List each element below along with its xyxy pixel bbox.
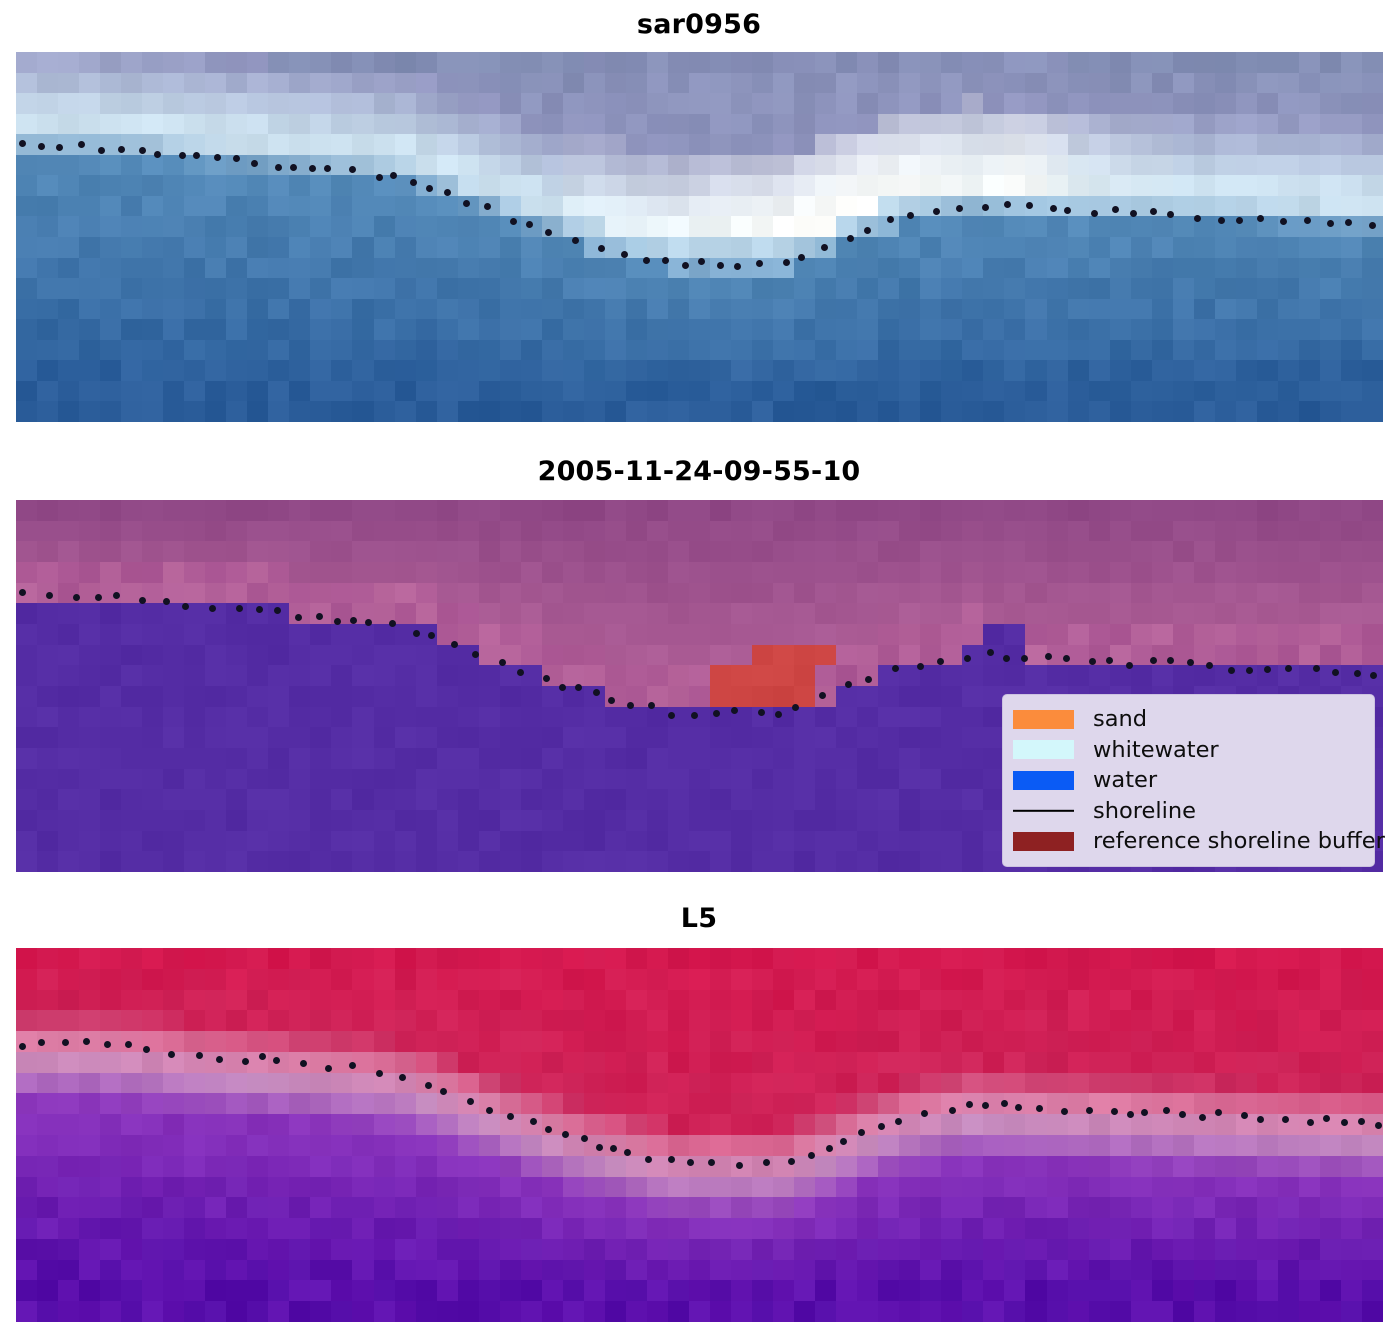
figure-canvas: sar0956 2005-11-24-09-55-10 L5 sandwhite…: [0, 0, 1398, 1337]
sar-raster: [16, 52, 1383, 422]
panel-title-sar: sar0956: [0, 9, 1398, 40]
legend-swatch-whitewater-icon: [1013, 740, 1074, 759]
legend-swatch-sand-icon: [1013, 710, 1074, 729]
panel-title-timestamp: 2005-11-24-09-55-10: [0, 456, 1398, 487]
legend-box[interactable]: sandwhitewaterwatershorelinereference sh…: [1002, 694, 1375, 867]
legend-row-sand[interactable]: sand: [1013, 704, 1362, 735]
l5-raster: [16, 948, 1383, 1322]
legend-row-shoreline[interactable]: shoreline: [1013, 796, 1362, 827]
panel-title-l5: L5: [0, 903, 1398, 934]
legend-swatch-shoreline-icon: [1013, 801, 1074, 820]
legend-label: water: [1093, 769, 1157, 792]
legend-swatch-reference-shoreline-buffer-icon: [1013, 832, 1074, 851]
legend-label: reference shoreline buffer: [1093, 830, 1385, 853]
panel-sar-image[interactable]: [16, 52, 1383, 422]
legend-label: sand: [1093, 708, 1147, 731]
legend-row-water[interactable]: water: [1013, 765, 1362, 796]
legend-swatch-water-icon: [1013, 771, 1074, 790]
legend-row-reference-shoreline-buffer[interactable]: reference shoreline buffer: [1013, 826, 1362, 857]
panel-l5-image[interactable]: [16, 948, 1383, 1322]
legend-row-whitewater[interactable]: whitewater: [1013, 735, 1362, 766]
legend-label: shoreline: [1093, 800, 1196, 823]
legend-label: whitewater: [1093, 739, 1219, 762]
